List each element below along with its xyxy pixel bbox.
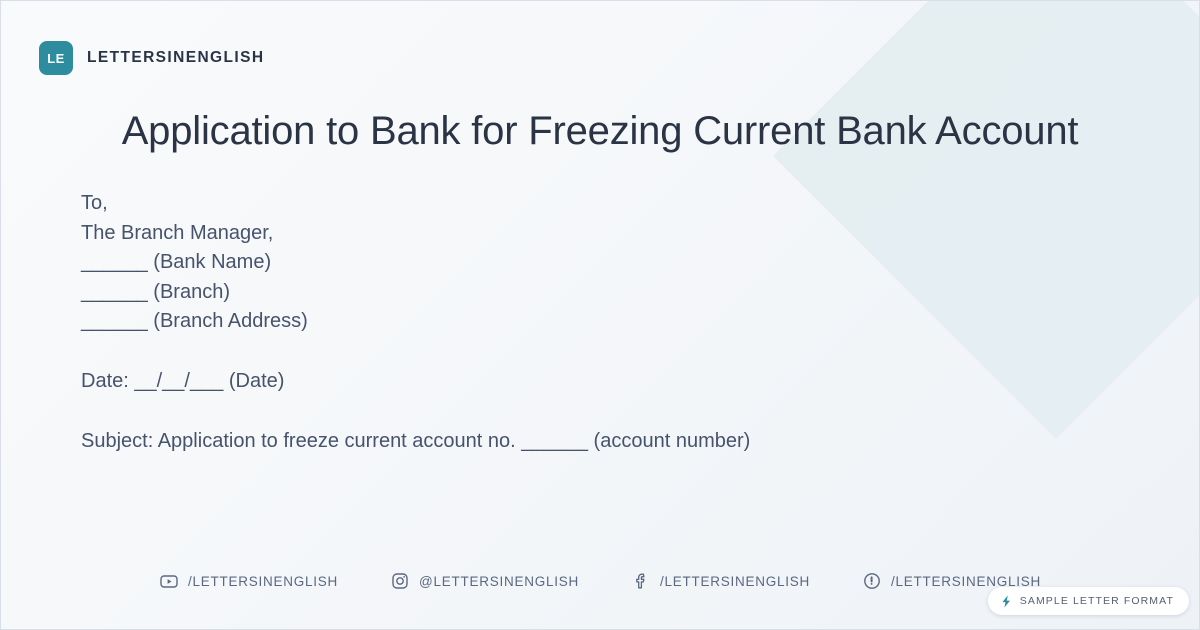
- social-link-instagram[interactable]: @LETTERSINENGLISH: [390, 571, 579, 591]
- social-label: /LETTERSINENGLISH: [660, 574, 810, 589]
- spacer: [81, 397, 1119, 427]
- brand-header[interactable]: LE LETTERSINENGLISH: [39, 41, 264, 75]
- subject-line: Subject: Application to freeze current a…: [81, 427, 1119, 457]
- poster-canvas: LE LETTERSINENGLISH Application to Bank …: [0, 0, 1200, 630]
- page-title: Application to Bank for Freezing Current…: [1, 107, 1199, 155]
- address-line: ______ (Branch Address): [81, 307, 1119, 337]
- address-line: The Branch Manager,: [81, 219, 1119, 249]
- social-label: @LETTERSINENGLISH: [419, 574, 579, 589]
- brand-logo-icon: LE: [39, 41, 73, 75]
- status-badge[interactable]: SAMPLE LETTER FORMAT: [988, 587, 1189, 615]
- letter-body: To, The Branch Manager, ______ (Bank Nam…: [81, 189, 1119, 456]
- address-line: ______ (Branch): [81, 278, 1119, 308]
- address-line: To,: [81, 189, 1119, 219]
- lightning-bolt-icon: [1000, 595, 1013, 608]
- social-label: /LETTERSINENGLISH: [188, 574, 338, 589]
- youtube-icon: [159, 571, 179, 591]
- pinterest-icon: [862, 571, 882, 591]
- date-line: Date: __/__/___ (Date): [81, 367, 1119, 397]
- address-block: To, The Branch Manager, ______ (Bank Nam…: [81, 189, 1119, 337]
- instagram-icon: [390, 571, 410, 591]
- brand-wordmark: LETTERSINENGLISH: [87, 49, 264, 67]
- address-line: ______ (Bank Name): [81, 248, 1119, 278]
- facebook-icon: [631, 571, 651, 591]
- social-link-youtube[interactable]: /LETTERSINENGLISH: [159, 571, 338, 591]
- badge-label: SAMPLE LETTER FORMAT: [1020, 595, 1174, 607]
- spacer: [81, 337, 1119, 367]
- social-link-facebook[interactable]: /LETTERSINENGLISH: [631, 571, 810, 591]
